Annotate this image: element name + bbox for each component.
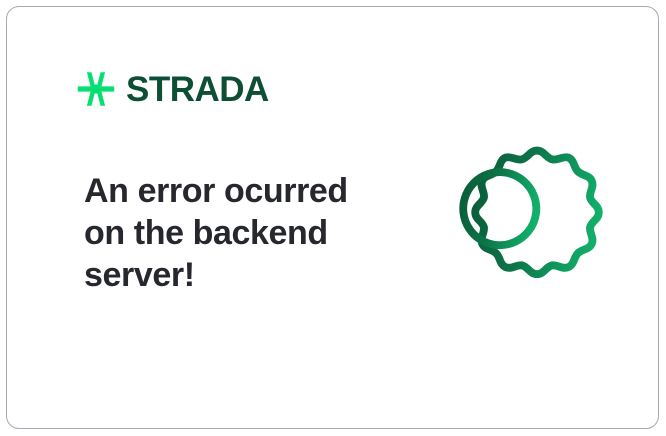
gear-cog-icon xyxy=(450,141,624,315)
error-card: STRADA An error ocurred on the backend s… xyxy=(6,6,659,429)
error-page: STRADA An error ocurred on the backend s… xyxy=(0,0,666,436)
brand-name: STRADA xyxy=(126,72,269,107)
error-headline: An error ocurred on the backend server! xyxy=(84,170,384,296)
asterisk-star-icon xyxy=(77,70,115,108)
brand-logo: STRADA xyxy=(77,70,269,108)
